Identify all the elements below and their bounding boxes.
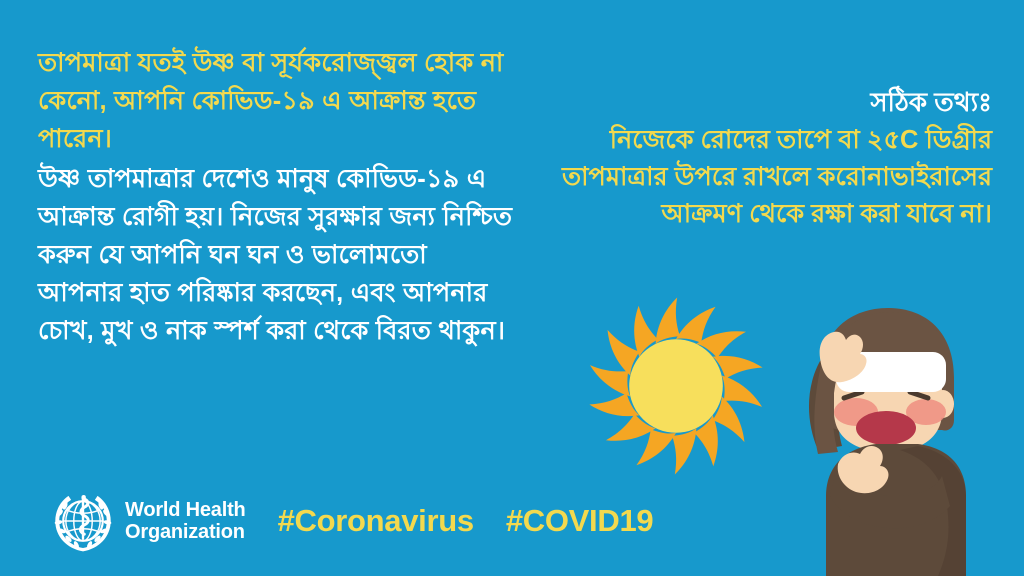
- myth-statement-paragraph: তাপমাত্রা যতই উষ্ণ বা সূর্যকরোজ্জ্বল হোক…: [38, 44, 518, 158]
- hashtag-coronavirus: #Coronavirus: [278, 504, 474, 538]
- sun-icon: [586, 296, 766, 476]
- sick-person-with-fever-icon: [780, 300, 1010, 576]
- myth-fact-left-text-block: তাপমাত্রা যতই উষ্ণ বা সূর্যকরোজ্জ্বল হোক…: [38, 44, 518, 350]
- fact-body-paragraph: নিজেকে রোদের তাপে বা ২৫C ডিগ্রীর তাপমাত্…: [532, 122, 992, 233]
- fact-heading: সঠিক তথ্যঃ: [532, 84, 992, 120]
- footer-bar: World Health Organization #Coronavirus #…: [50, 488, 653, 554]
- who-wordmark-line1: World Health: [125, 499, 246, 521]
- infographic-canvas: তাপমাত্রা যতই উষ্ণ বা সূর্যকরোজ্জ্বল হোক…: [0, 0, 1024, 576]
- fact-right-text-block: সঠিক তথ্যঃ নিজেকে রোদের তাপে বা ২৫C ডিগ্…: [532, 84, 992, 233]
- person-mouth: [856, 411, 916, 445]
- hashtag-covid19: #COVID19: [506, 504, 654, 538]
- who-emblem-icon: [50, 488, 116, 554]
- who-wordmark: World Health Organization: [125, 499, 246, 543]
- hashtag-group: #Coronavirus #COVID19: [278, 504, 654, 538]
- sun-core: [629, 339, 723, 433]
- fact-explanation-paragraph: উষ্ণ তাপমাত্রার দেশেও মানুষ কোভিড-১৯ এ আ…: [38, 160, 518, 350]
- who-wordmark-line2: Organization: [125, 521, 246, 543]
